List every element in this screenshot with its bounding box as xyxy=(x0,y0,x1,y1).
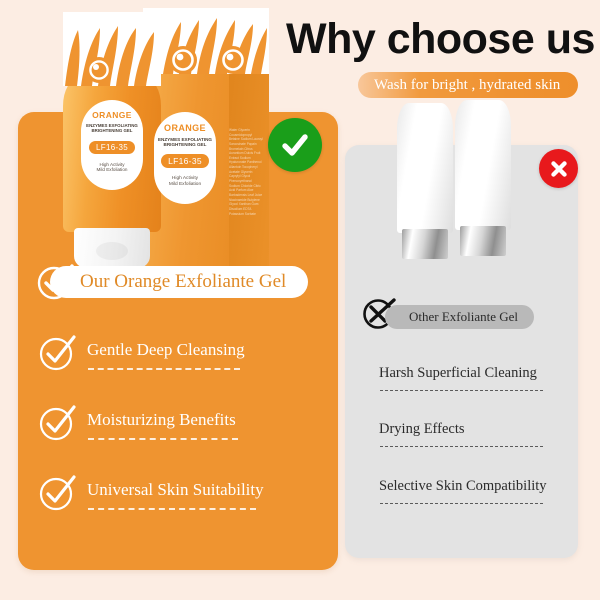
subtitle-text: Wash for bright , hydrated skin xyxy=(374,77,560,94)
drawback-item-1-label: Harsh Superficial Cleaning xyxy=(379,365,537,382)
competitor-tube-1 xyxy=(397,103,453,261)
benefit-item-1-label: Gentle Deep Cleansing xyxy=(87,340,245,360)
competitor-tube-2 xyxy=(455,100,511,258)
benefit-item-2-underline xyxy=(88,438,238,440)
check-circle-icon xyxy=(38,404,76,442)
benefit-item-1-underline xyxy=(88,368,240,370)
check-circle-icon xyxy=(38,474,76,512)
competitor-tube-2-cap xyxy=(460,226,506,256)
subtitle-badge: Wash for bright , hydrated skin xyxy=(358,72,578,98)
ours-heading-pill: Our Orange Exfoliante Gel xyxy=(50,266,308,298)
others-heading-pill: Other Exfoliante Gel xyxy=(385,305,534,329)
competitor-tube-2-body xyxy=(455,100,511,230)
benefit-item-3-underline xyxy=(88,508,256,510)
poster-canvas: Why choose us Wash for bright , hydrated… xyxy=(0,0,600,600)
red-x-badge-icon xyxy=(539,149,578,188)
check-circle-icon xyxy=(38,334,76,372)
competitor-tube-1-cap xyxy=(402,229,448,259)
drawback-item-2-underline xyxy=(380,446,543,447)
green-check-badge-icon xyxy=(268,118,322,172)
competitor-tube-1-body xyxy=(397,103,453,233)
carton-citrus-burst-icon xyxy=(143,8,269,74)
tube-citrus-burst-icon xyxy=(63,12,161,86)
drawback-item-3-underline xyxy=(380,503,543,504)
others-heading-text: Other Exfoliante Gel xyxy=(409,309,518,325)
drawback-item-3-label: Selective Skin Compatibility xyxy=(379,478,547,495)
benefit-item-3-label: Universal Skin Suitability xyxy=(87,480,264,500)
benefit-item-2-label: Moisturizing Benefits xyxy=(87,410,236,430)
drawback-item-2-label: Drying Effects xyxy=(379,421,465,438)
drawback-item-1-underline xyxy=(380,390,543,391)
page-title: Why choose us xyxy=(286,10,586,68)
ours-heading-text: Our Orange Exfoliante Gel xyxy=(80,271,286,293)
